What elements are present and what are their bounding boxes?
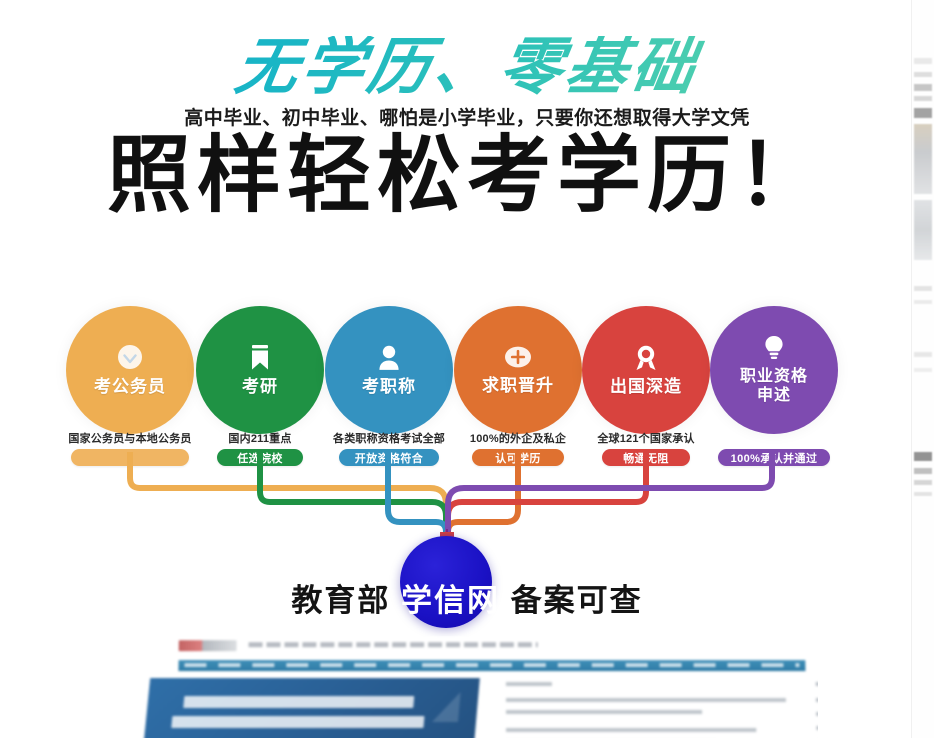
poster-canvas: 无学历、零基础 高中毕业、初中毕业、哪怕是小学毕业，只要你还想取得大学文凭 照样… <box>0 0 934 738</box>
site-banner-blur <box>141 678 480 738</box>
award-ribbon-icon <box>631 343 661 373</box>
benefit-bubble-0[interactable]: 考公务员 <box>66 306 194 434</box>
wire-3 <box>448 452 518 538</box>
benefit-label-5-line2: 申述 <box>757 387 791 406</box>
benefit-label-2: 考职称 <box>362 377 416 397</box>
benefit-bubble-1[interactable]: 考研 <box>196 306 324 434</box>
benefit-label-1: 考研 <box>242 377 278 397</box>
benefit-bubble-2[interactable]: 考职称 <box>325 306 453 434</box>
benefit-label-0: 考公务员 <box>94 377 166 397</box>
benefit-node-0[interactable]: 考公务员 <box>66 306 194 434</box>
website-screenshot-inner <box>118 636 818 738</box>
footer-prefix: 教育部 <box>291 583 390 618</box>
benefit-node-2[interactable]: 考职称 <box>325 306 453 434</box>
benefit-bubble-4[interactable]: 出国深造 <box>582 306 710 434</box>
benefit-node-4[interactable]: 出国深造 <box>582 306 710 434</box>
site-logo-blur <box>179 640 237 651</box>
script-headline: 无学历、零基础 <box>0 36 934 101</box>
plus-circle-icon <box>502 344 534 372</box>
subtitle-line: 高中毕业、初中毕业、哪怕是小学毕业，只要你还想取得大学文凭 <box>0 103 934 130</box>
footer-suffix: 备案可查 <box>511 583 643 618</box>
wire-5 <box>448 452 772 530</box>
check-circle-icon <box>115 343 145 373</box>
benefit-caption-1: 国内211重点 <box>196 432 324 446</box>
bookmark-icon <box>247 343 273 373</box>
site-topbar-text-blur <box>249 642 538 647</box>
footer-line: 教育部 学信网 备案可查 <box>0 575 934 620</box>
footer-highlight: 学信网 <box>401 583 500 618</box>
website-screenshot <box>118 636 818 738</box>
wire-0 <box>130 452 446 530</box>
benefit-bubble-5[interactable]: 职业资格 申述 <box>710 306 838 434</box>
benefit-caption-3: 100%的外企及私企 <box>452 432 584 446</box>
benefit-bubble-3[interactable]: 求职晋升 <box>454 306 582 434</box>
benefit-caption-0: 国家公务员与本地公务员 <box>60 432 200 446</box>
lightbulb-icon <box>762 334 786 364</box>
page-title: 照样轻松考学历！ <box>0 128 934 222</box>
right-edge-sliver <box>911 0 934 738</box>
benefit-label-4: 出国深造 <box>610 377 682 397</box>
benefit-caption-4: 全球121个国家承认 <box>580 432 712 446</box>
person-icon <box>375 343 403 373</box>
benefit-node-3[interactable]: 求职晋升 <box>454 306 582 434</box>
benefit-label-5-line1: 职业资格 <box>740 368 808 387</box>
benefit-caption-2: 各类职称资格考试全部 <box>320 432 458 446</box>
site-nav-blur <box>178 660 805 671</box>
wire-2 <box>388 452 446 538</box>
banner-text-2 <box>171 716 424 728</box>
banner-text-1 <box>183 696 414 708</box>
banner-arrow-blur <box>432 692 461 722</box>
benefit-node-5[interactable]: 职业资格 申述 <box>710 306 838 434</box>
benefit-label-3: 求职晋升 <box>482 376 554 396</box>
benefit-node-1[interactable]: 考研 <box>196 306 324 434</box>
benefit-circle-row: 考公务员 考研 考职称 <box>0 306 934 438</box>
